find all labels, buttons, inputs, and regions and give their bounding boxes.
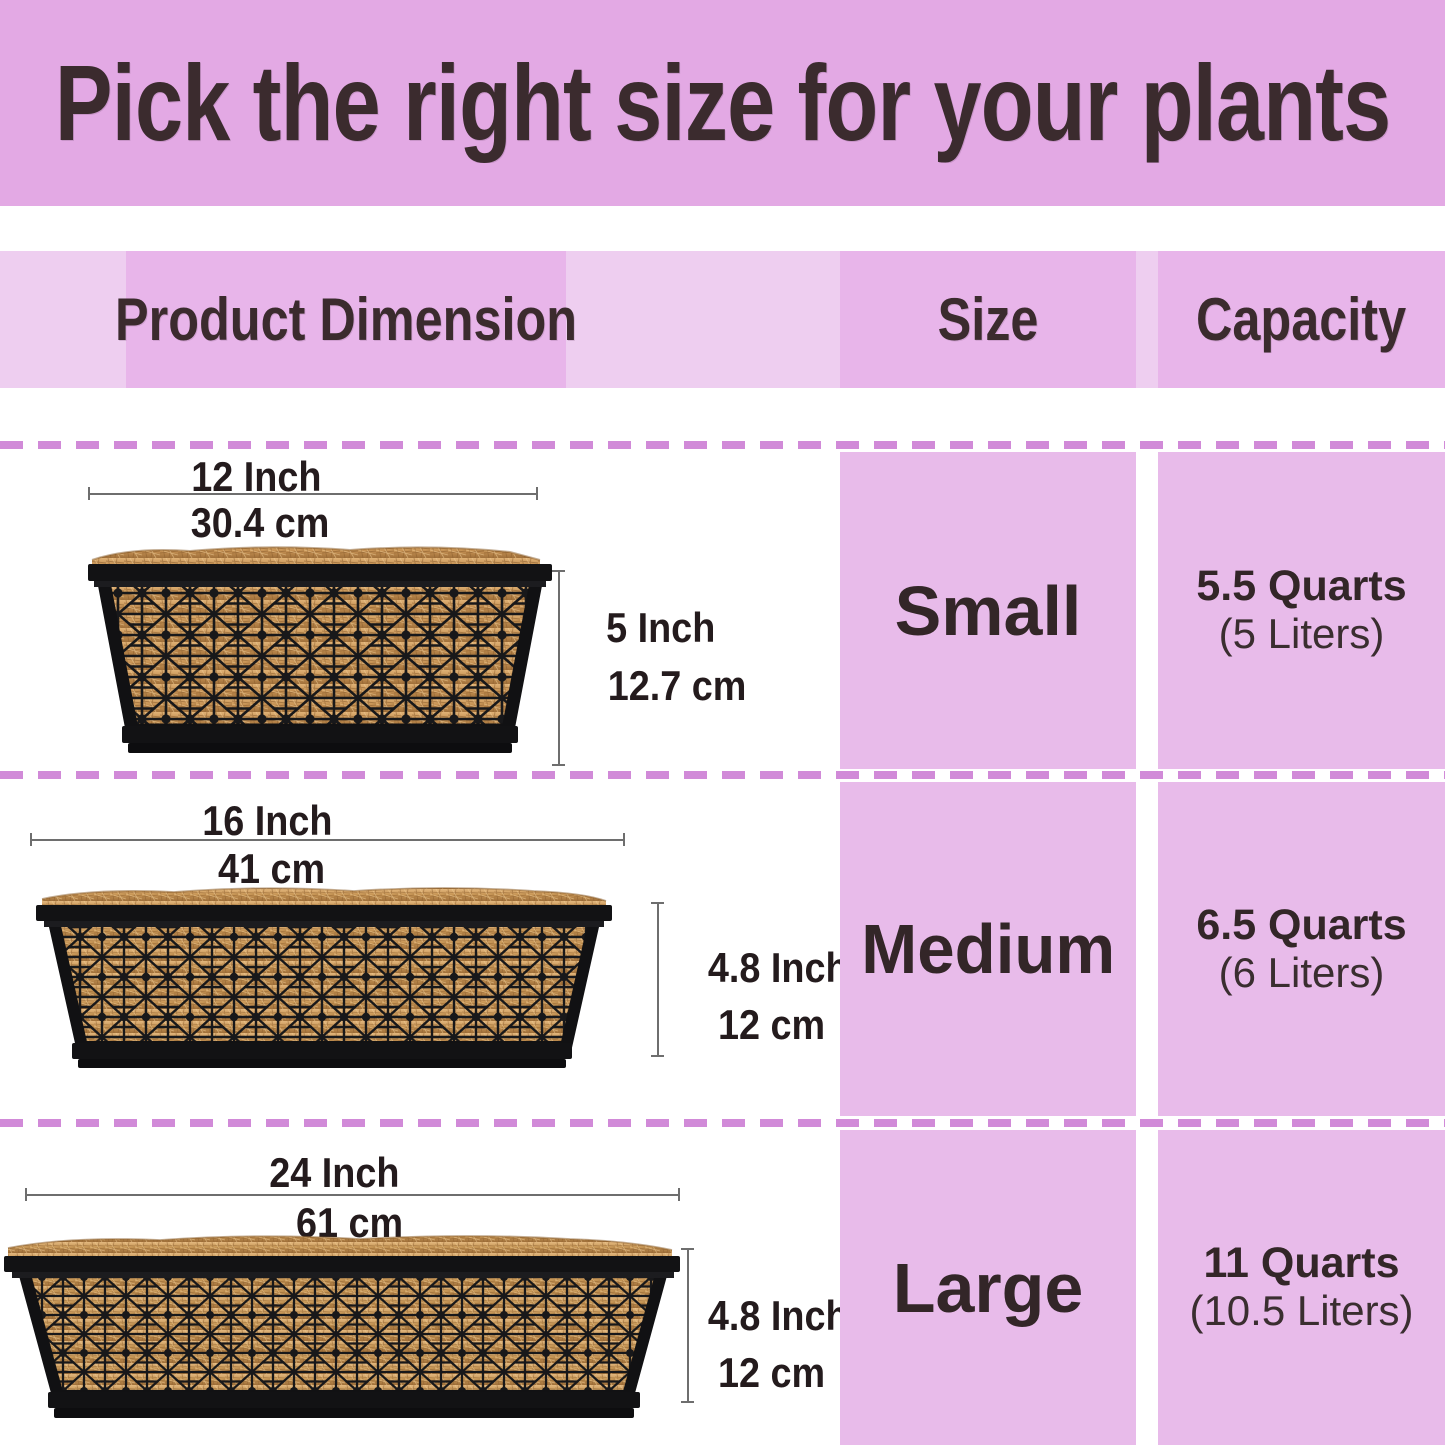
size-value: Medium [861,914,1115,984]
row-divider [0,1119,1445,1127]
column-header-dimension: Product Dimension [126,251,566,388]
size-value: Small [895,576,1082,646]
top-rail [88,564,552,581]
width-dimension-line [88,493,538,495]
table-row: 12 Inch 30.4 cm 5 Inch 12.7 cm [0,452,840,769]
base-plate [72,1043,572,1059]
capacity-quarts: 11 Quarts [1204,1239,1400,1287]
size-cell-large: Large [840,1130,1136,1445]
width-dimension-line [25,1194,680,1196]
row-divider [0,441,1445,449]
column-header-size-label: Size [938,290,1039,350]
capacity-cell-medium: 6.5 Quarts (6 Liters) [1158,782,1445,1116]
planter-image-large [0,1220,690,1425]
size-cell-medium: Medium [840,782,1136,1116]
capacity-liters: (6 Liters) [1219,949,1385,997]
capacity-liters: (5 Liters) [1219,610,1385,658]
capacity-cell-large: 11 Quarts (10.5 Liters) [1158,1130,1445,1445]
column-header-dimension-label: Product Dimension [115,290,577,350]
base-plate [122,726,518,743]
width-inch-label: 12 Inch [191,456,321,498]
planter-image-medium [14,877,634,1077]
capacity-quarts: 5.5 Quarts [1196,562,1406,610]
width-inch-label: 24 Inch [269,1152,399,1194]
width-dimension-line [30,839,625,841]
title-banner: Pick the right size for your plants [0,0,1445,206]
height-dimension-line [657,902,659,1057]
lattice-pattern [16,1258,676,1404]
capacity-cell-small: 5.5 Quarts (5 Liters) [1158,452,1445,769]
top-rail [4,1256,680,1272]
base-plate [48,1392,640,1408]
lattice-pattern [96,566,546,738]
height-inch-label: 4.8 Inch [708,1295,849,1337]
column-header-size: Size [840,251,1136,388]
top-rail [36,905,612,921]
lattice-pattern [46,907,606,1055]
height-cm-label: 12 cm [718,1352,825,1394]
capacity-liters: (10.5 Liters) [1189,1287,1413,1335]
planter-image-small [70,530,570,770]
height-inch-label: 5 Inch [606,607,715,649]
size-cell-small: Small [840,452,1136,769]
table-row: 24 Inch 61 cm 4.8 Inch 12 cm [0,1130,840,1445]
column-header-capacity: Capacity [1158,251,1445,388]
height-cm-label: 12.7 cm [608,665,747,707]
size-value: Large [893,1253,1084,1323]
height-inch-label: 4.8 Inch [708,947,849,989]
table-row: 16 Inch 41 cm 4.8 Inch 12 cm [0,782,840,1116]
page-title: Pick the right size for your plants [55,49,1390,157]
row-divider [0,771,1445,779]
height-cm-label: 12 cm [718,1004,825,1046]
capacity-quarts: 6.5 Quarts [1196,901,1406,949]
column-header-capacity-label: Capacity [1196,290,1406,350]
width-inch-label: 16 Inch [202,800,332,842]
